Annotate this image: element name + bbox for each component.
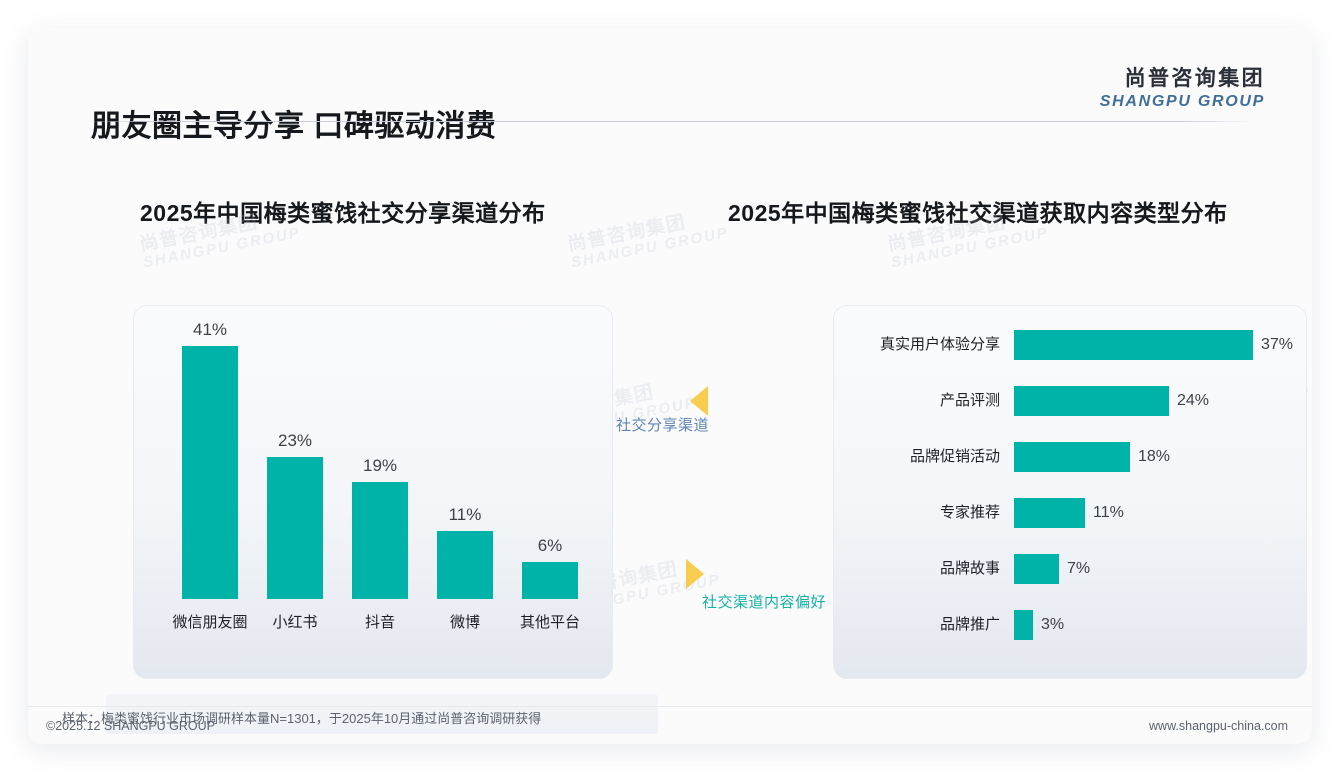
chart-title-right: 2025年中国梅类蜜饯社交渠道获取内容类型分布 — [728, 194, 1228, 228]
watermark-en: SHANGPU GROUP — [570, 225, 730, 271]
header-divider — [84, 121, 1256, 122]
bar-fill[interactable] — [1014, 498, 1085, 528]
bar-category-label: 品牌推广 — [834, 610, 1000, 640]
annotation-label: 社交渠道内容偏好 — [702, 591, 826, 612]
bar-fill[interactable] — [1014, 610, 1033, 640]
bar-track — [1014, 442, 1130, 472]
column-category-label: 其他平台 — [490, 611, 610, 632]
bar-track — [1014, 554, 1059, 584]
bar-category-label: 专家推荐 — [834, 498, 1000, 528]
slide-header: 朋友圈主导分享 口碑驱动消费 尚普咨询集团 SHANGPU GROUP — [28, 28, 1312, 121]
chart-title-left: 2025年中国梅类蜜饯社交分享渠道分布 — [140, 194, 546, 228]
column-group: 41%微信朋友圈 — [182, 306, 238, 678]
bar-fill[interactable] — [1014, 330, 1253, 360]
bar-value-label: 37% — [1261, 330, 1293, 360]
bar-fill[interactable] — [1014, 442, 1130, 472]
bar-value-label: 18% — [1138, 442, 1170, 472]
watermark-en: SHANGPU GROUP — [890, 225, 1050, 271]
annotation-label: 社交分享渠道 — [616, 414, 709, 435]
column-value-label: 11% — [415, 505, 515, 525]
slide-card: 朋友圈主导分享 口碑驱动消费 尚普咨询集团 SHANGPU GROUP 2025… — [28, 28, 1312, 744]
bar-fill[interactable] — [1014, 386, 1169, 416]
watermark-cn: 尚普咨询集团 — [566, 205, 727, 255]
column-group: 19%抖音 — [352, 306, 408, 678]
column-group: 6%其他平台 — [522, 306, 578, 678]
footer-divider — [28, 706, 1312, 707]
triangle-right-icon — [686, 559, 704, 589]
bar-row: 产品评测24% — [834, 386, 1306, 416]
horizontal-bar-chart: 真实用户体验分享37%产品评测24%品牌促销活动18%专家推荐11%品牌故事7%… — [834, 306, 1306, 678]
column-bar[interactable] — [522, 562, 578, 599]
bar-value-label: 11% — [1093, 498, 1124, 528]
chart-card-share-channels: 41%微信朋友圈23%小红书19%抖音11%微博6%其他平台 — [133, 305, 613, 679]
watermark: 尚普咨询集团 SHANGPU GROUP — [566, 205, 730, 271]
slide-root: 朋友圈主导分享 口碑驱动消费 尚普咨询集团 SHANGPU GROUP 2025… — [0, 0, 1340, 780]
column-bar[interactable] — [352, 482, 408, 599]
bar-row: 专家推荐11% — [834, 498, 1306, 528]
bar-track — [1014, 330, 1253, 360]
bar-category-label: 产品评测 — [834, 386, 1000, 416]
bar-track — [1014, 610, 1033, 640]
chart-card-content-types: 真实用户体验分享37%产品评测24%品牌促销活动18%专家推荐11%品牌故事7%… — [833, 305, 1307, 679]
column-value-label: 6% — [500, 536, 600, 556]
bar-fill[interactable] — [1014, 554, 1059, 584]
column-value-label: 23% — [245, 431, 345, 451]
logo-english-name: SHANGPU GROUP — [1100, 94, 1265, 110]
bar-row: 品牌促销活动18% — [834, 442, 1306, 472]
bar-row: 真实用户体验分享37% — [834, 330, 1306, 360]
column-bar[interactable] — [182, 346, 238, 599]
watermark-en: SHANGPU GROUP — [142, 225, 302, 271]
column-bar[interactable] — [437, 531, 493, 599]
logo-chinese-name: 尚普咨询集团 — [1100, 68, 1265, 89]
bar-value-label: 24% — [1177, 386, 1209, 416]
column-value-label: 19% — [330, 456, 430, 476]
bar-value-label: 3% — [1041, 610, 1064, 640]
bar-row: 品牌故事7% — [834, 554, 1306, 584]
column-value-label: 41% — [160, 320, 260, 340]
bar-track — [1014, 386, 1169, 416]
copyright-text: ©2025.12 SHANGPU GROUP — [46, 719, 215, 733]
column-group: 11%微博 — [437, 306, 493, 678]
vertical-bar-chart: 41%微信朋友圈23%小红书19%抖音11%微博6%其他平台 — [134, 306, 612, 678]
bar-category-label: 真实用户体验分享 — [834, 330, 1000, 360]
bar-value-label: 7% — [1067, 554, 1090, 584]
website-link[interactable]: www.shangpu-china.com — [1149, 719, 1288, 733]
triangle-left-icon — [690, 386, 708, 416]
column-group: 23%小红书 — [267, 306, 323, 678]
page-title: 朋友圈主导分享 口碑驱动消费 — [91, 101, 496, 145]
brand-logo: 尚普咨询集团 SHANGPU GROUP — [1100, 68, 1265, 110]
bar-row: 品牌推广3% — [834, 610, 1306, 640]
column-bar[interactable] — [267, 457, 323, 599]
bar-category-label: 品牌故事 — [834, 554, 1000, 584]
bar-category-label: 品牌促销活动 — [834, 442, 1000, 472]
bar-track — [1014, 498, 1085, 528]
